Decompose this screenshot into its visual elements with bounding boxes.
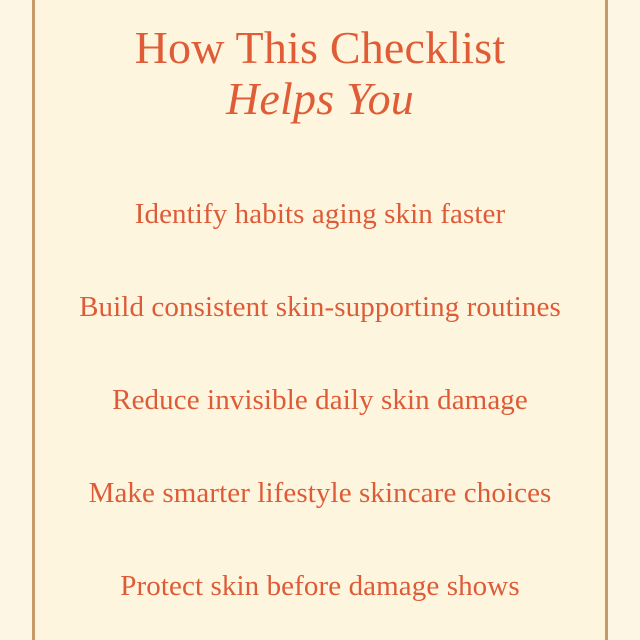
benefit-text: Identify habits aging skin faster [135,197,506,231]
list-item: Identify habits aging skin faster [35,167,605,260]
page-title-line-1: How This Checklist [35,22,605,74]
benefits-list: Identify habits aging skin faster Build … [35,167,605,632]
benefit-text: Protect skin before damage shows [120,569,519,603]
benefit-text: Reduce invisible daily skin damage [112,383,528,417]
list-item: Reduce invisible daily skin damage [35,353,605,446]
benefit-text: Make smarter lifestyle skincare choices [89,476,552,510]
left-margin-strip [0,0,32,640]
page-title: How This Checklist Helps You [35,22,605,124]
checklist-poster: How This Checklist Helps You Identify ha… [0,0,640,640]
list-item: Build consistent skin-supporting routine… [35,260,605,353]
list-item: Protect skin before damage shows [35,539,605,632]
page-title-line-2: Helps You [35,74,605,124]
poster-content-panel: How This Checklist Helps You Identify ha… [35,0,605,640]
benefit-text: Build consistent skin-supporting routine… [79,290,561,324]
list-item: Make smarter lifestyle skincare choices [35,446,605,539]
right-margin-strip [608,0,640,640]
right-border-rule [605,0,608,640]
